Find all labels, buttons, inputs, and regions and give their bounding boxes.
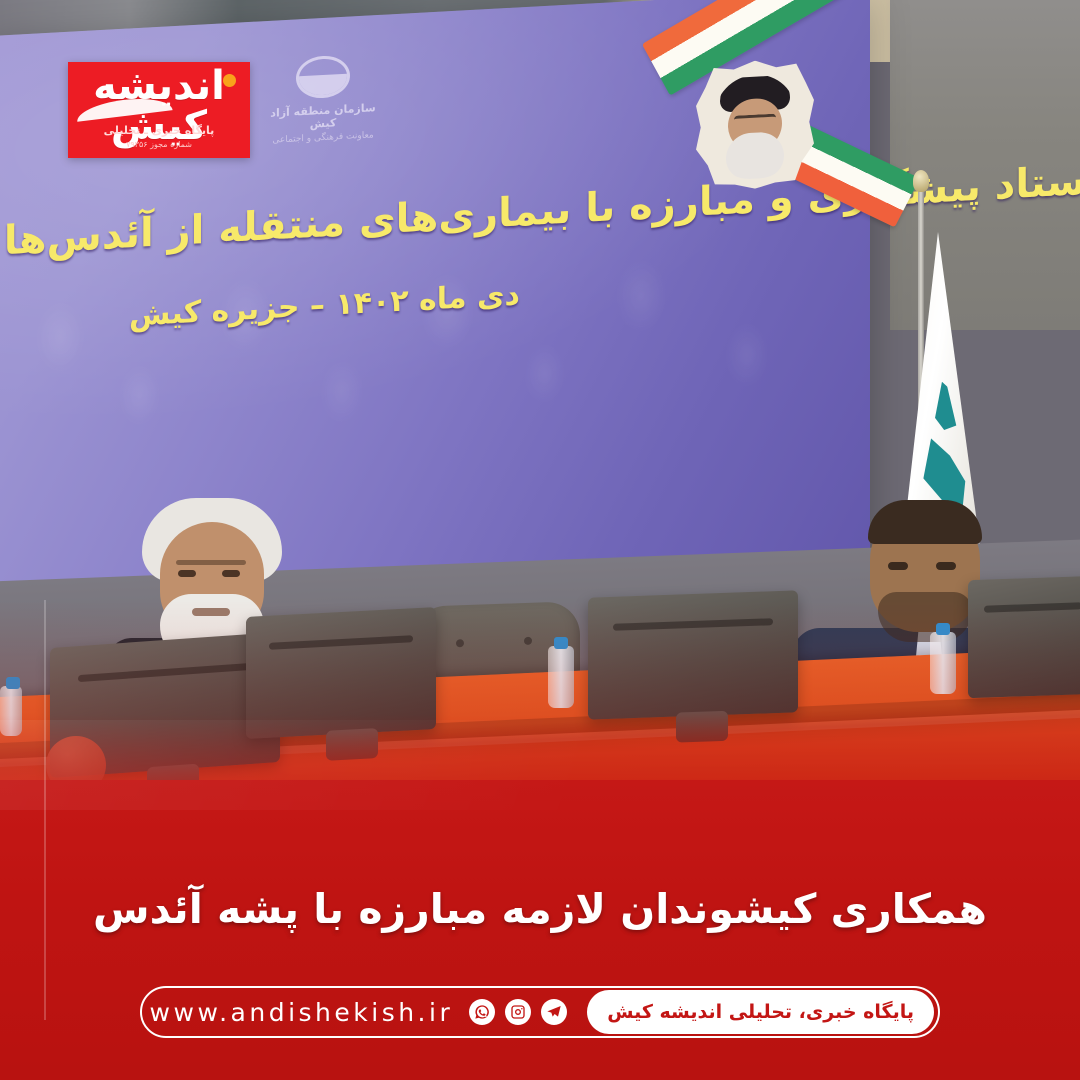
website-url[interactable]: www.andishekish.ir [150, 998, 454, 1027]
organization-logo-line1: سازمان منطقه آزاد کیش [258, 101, 388, 134]
footer-brand-pill[interactable]: پایگاه خبری، تحلیلی اندیشه کیش [587, 990, 934, 1034]
vertical-guide-line [44, 600, 46, 1020]
instagram-icon[interactable] [505, 999, 531, 1025]
person-right-eye-right [936, 562, 956, 570]
news-card: ستاد پیشگیری و مبارزه با بیماری‌های منتق… [0, 0, 1080, 1080]
whatsapp-icon[interactable] [469, 999, 495, 1025]
organization-logo: سازمان منطقه آزاد کیش معاونت فرهنگی و اج… [258, 53, 388, 156]
person-left-brow [176, 560, 246, 565]
leader-portrait-emblem [648, 0, 888, 206]
telegram-icon[interactable] [541, 999, 567, 1025]
person-right-eye-left [888, 562, 908, 570]
footer-bar: پایگاه خبری، تحلیلی اندیشه کیش www.andis… [140, 986, 940, 1038]
person-left-eye-left [178, 570, 196, 577]
person-right-hair [868, 500, 982, 544]
social-links [469, 999, 567, 1025]
person-left-eye-right [222, 570, 240, 577]
site-logo-badge[interactable]: اندیشه کیش پایگاه خبری ـ تحلیلی شماره مج… [68, 62, 250, 158]
portrait-face [714, 73, 796, 181]
organization-wave-mark-icon [296, 55, 350, 100]
site-logo-dot-icon [223, 74, 236, 87]
site-logo-license: شماره مجوز ۷۹۳۵۶ [68, 140, 250, 149]
site-logo-tagline: پایگاه خبری ـ تحلیلی [68, 124, 250, 137]
headline: همکاری کیشوندان لازمه مبارزه با پشه آئدس [0, 884, 1080, 935]
portrait-beard [726, 131, 784, 180]
